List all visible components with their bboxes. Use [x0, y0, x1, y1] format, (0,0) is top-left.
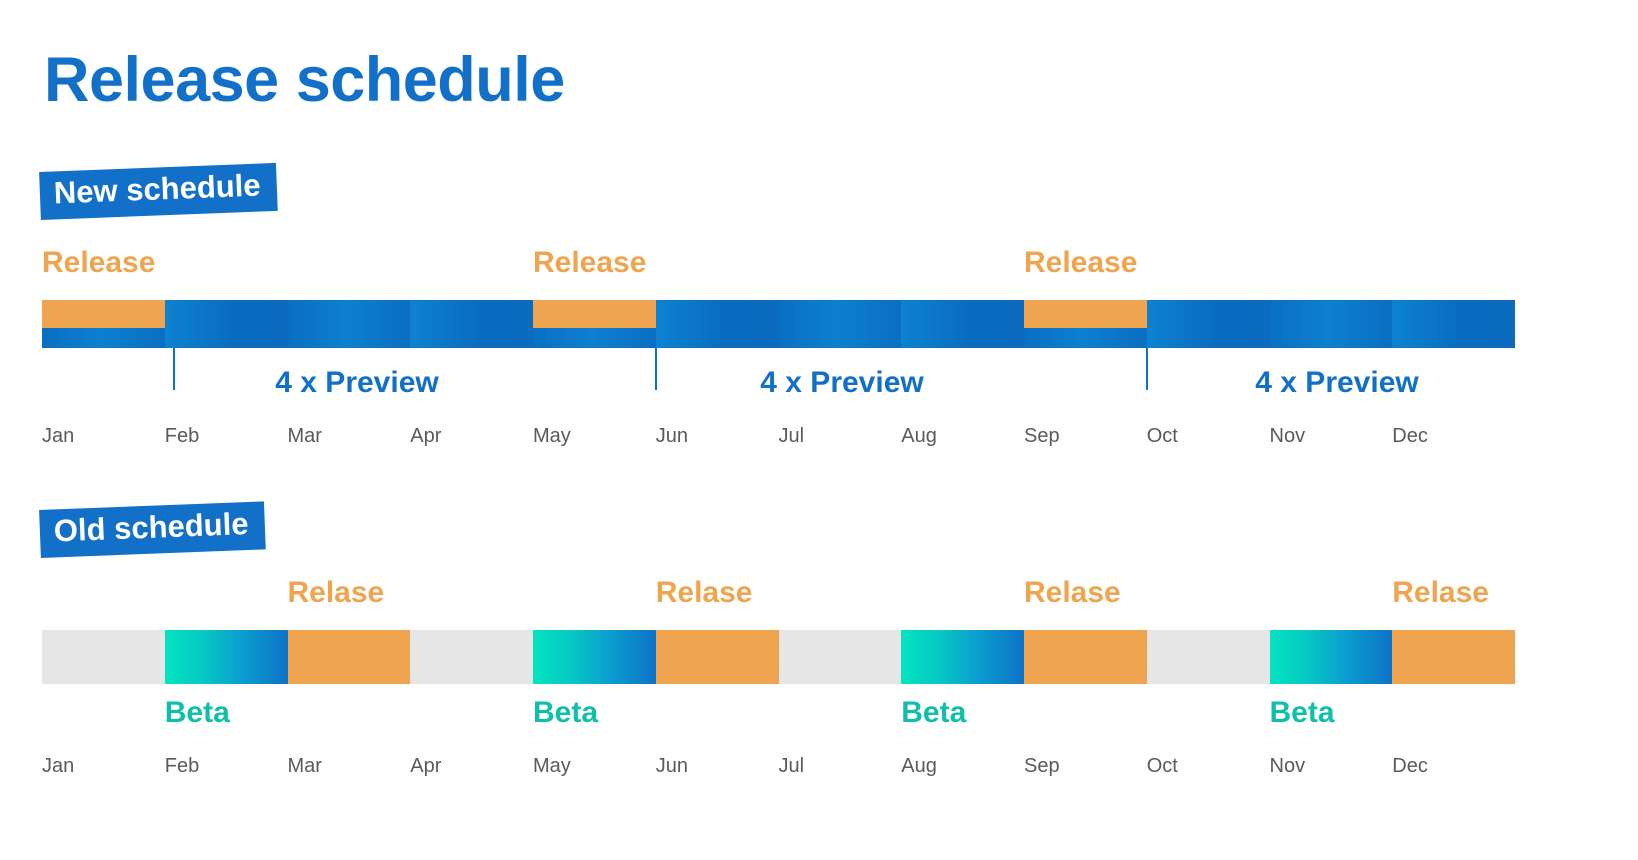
old-release-label-2: Relase [656, 578, 753, 608]
old-month-aug: Aug [901, 756, 937, 776]
new-month-sep: Sep [1024, 426, 1060, 446]
old-beta-label-2: Beta [533, 698, 598, 728]
section-badge-new-schedule: New schedule [39, 163, 277, 220]
new-release-block-jan [42, 300, 165, 328]
old-beta-label-1: Beta [165, 698, 230, 728]
new-bar-segment-mar [288, 300, 411, 348]
new-bar-segment-jul [779, 300, 902, 348]
new-bar-segment-jun [656, 300, 779, 348]
new-bar-segment-dec [1392, 300, 1515, 348]
old-month-oct: Oct [1147, 756, 1178, 776]
new-month-mar: Mar [288, 426, 322, 446]
new-preview-label-2: 4 x Preview [687, 368, 997, 398]
new-release-block-may [533, 300, 656, 328]
old-release-block-sep [1024, 630, 1147, 684]
new-bar-segment-apr [410, 300, 533, 348]
new-schedule-bar [42, 300, 1515, 348]
new-month-nov: Nov [1270, 426, 1306, 446]
new-release-label-1: Release [42, 248, 155, 278]
old-beta-block-nov [1270, 630, 1393, 684]
section-badge-old-schedule: Old schedule [39, 501, 265, 557]
old-release-block-dec [1392, 630, 1515, 684]
new-bar-segment-aug [901, 300, 1024, 348]
new-bar-tick-oct [1146, 348, 1148, 390]
old-month-mar: Mar [288, 756, 322, 776]
old-month-may: May [533, 756, 571, 776]
old-month-apr: Apr [410, 756, 441, 776]
old-month-jan: Jan [42, 756, 74, 776]
new-month-jul: Jul [779, 426, 805, 446]
old-release-label-1: Relase [288, 578, 385, 608]
old-release-block-mar [288, 630, 411, 684]
old-release-label-3: Relase [1024, 578, 1121, 608]
old-month-sep: Sep [1024, 756, 1060, 776]
new-bar-segment-oct [1147, 300, 1270, 348]
release-schedule-slide: Release schedule New schedule Release Re… [0, 0, 1638, 860]
new-month-aug: Aug [901, 426, 937, 446]
new-bar-tick-feb [173, 348, 175, 390]
new-schedule-month-axis: Jan Feb Mar Apr May Jun Jul Aug Sep Oct … [42, 426, 1515, 452]
new-month-jun: Jun [656, 426, 688, 446]
old-release-label-4: Relase [1392, 578, 1489, 608]
new-bar-tick-jun [655, 348, 657, 390]
old-month-nov: Nov [1270, 756, 1306, 776]
old-month-dec: Dec [1392, 756, 1428, 776]
page-title: Release schedule [44, 46, 565, 115]
old-beta-block-aug [901, 630, 1024, 684]
new-month-may: May [533, 426, 571, 446]
new-preview-label-1: 4 x Preview [202, 368, 512, 398]
new-preview-label-3: 4 x Preview [1182, 368, 1492, 398]
old-month-jun: Jun [656, 756, 688, 776]
new-bar-segment-nov [1270, 300, 1393, 348]
new-bar-segment-feb [165, 300, 288, 348]
old-month-jul: Jul [779, 756, 805, 776]
new-release-block-sep [1024, 300, 1147, 328]
new-month-oct: Oct [1147, 426, 1178, 446]
new-month-apr: Apr [410, 426, 441, 446]
new-release-label-3: Release [1024, 248, 1137, 278]
new-month-feb: Feb [165, 426, 199, 446]
old-beta-block-may [533, 630, 656, 684]
old-beta-block-feb [165, 630, 288, 684]
old-beta-label-3: Beta [901, 698, 966, 728]
old-schedule-bar [42, 630, 1515, 684]
old-beta-label-4: Beta [1270, 698, 1335, 728]
old-release-block-jun [656, 630, 779, 684]
old-schedule-month-axis: Jan Feb Mar Apr May Jun Jul Aug Sep Oct … [42, 756, 1515, 782]
new-month-dec: Dec [1392, 426, 1428, 446]
new-release-label-2: Release [533, 248, 646, 278]
new-month-jan: Jan [42, 426, 74, 446]
old-month-feb: Feb [165, 756, 199, 776]
